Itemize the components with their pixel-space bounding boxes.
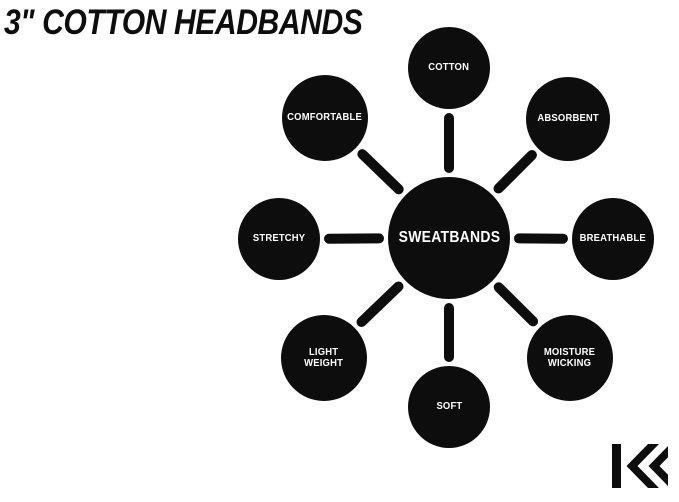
node-breathable-text: BREATHABLE	[580, 233, 646, 244]
chevron-logo-icon	[610, 440, 668, 492]
node-comfortable-text: COMFORTABLE	[288, 112, 363, 123]
node-moisture-wicking-text: MOISTURE WICKING	[544, 347, 595, 370]
node-absorbent[interactable]: ABSORBENT	[513, 77, 622, 161]
node-light-weight[interactable]: LIGHT WEIGHT	[268, 315, 380, 401]
brand-logo	[610, 440, 668, 492]
product-infographic: 3" COTTON HEADBANDS COTTONABSORBENTBREAT…	[0, 0, 679, 502]
node-cotton-text: COTTON	[429, 62, 470, 73]
node-soft[interactable]: SOFT	[396, 366, 503, 448]
node-breathable[interactable]: BREATHABLE	[560, 198, 667, 280]
hub-node-text: SWEATBANDS	[398, 230, 500, 247]
node-stretchy[interactable]: STRETCHY	[226, 198, 333, 280]
hub-node[interactable]: SWEATBANDS	[370, 177, 529, 299]
node-absorbent-text: ABSORBENT	[537, 113, 598, 124]
node-comfortable[interactable]: COMFORTABLE	[269, 75, 381, 161]
node-light-weight-text: LIGHT WEIGHT	[305, 347, 344, 370]
node-moisture-wicking[interactable]: MOISTURE WICKING	[514, 315, 626, 401]
node-cotton[interactable]: COTTON	[396, 27, 503, 109]
node-stretchy-text: STRETCHY	[253, 233, 305, 244]
node-soft-text: SOFT	[436, 401, 462, 412]
